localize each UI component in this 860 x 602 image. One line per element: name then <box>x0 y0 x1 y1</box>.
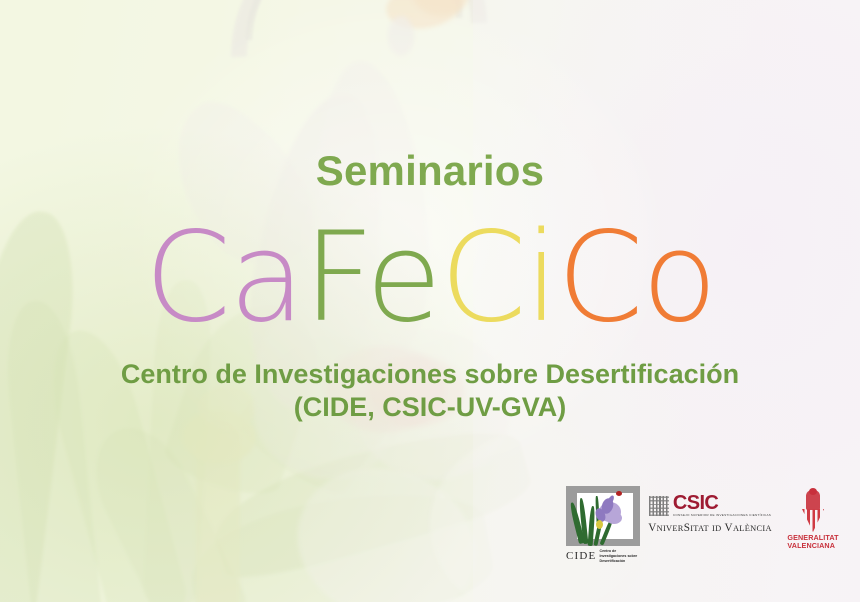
cide-logo-plate <box>566 486 640 546</box>
csic-logo: CSIC CONSEJO SUPERIOR DE INVESTIGACIONES… <box>649 494 771 517</box>
csic-wordmark: CSIC CONSEJO SUPERIOR DE INVESTIGACIONES… <box>673 494 771 517</box>
csic-uv-logo-group: CSIC CONSEJO SUPERIOR DE INVESTIGACIONES… <box>652 486 768 534</box>
wordmark-part-co: Co <box>557 206 715 350</box>
subtitle-line-2: (CIDE, CSIC-UV-GVA) <box>0 391 860 424</box>
subtitle: Centro de Investigaciones sobre Desertif… <box>0 358 860 424</box>
cide-caption: CIDE Centro de Investigaciones sobre Des… <box>566 549 642 564</box>
uv-part-1: V <box>648 522 656 534</box>
gva-wordmark: GENERALITAT VALENCIANA <box>787 534 838 551</box>
uv-part-2: NIVER <box>657 524 684 533</box>
uv-part-6: V <box>725 522 733 534</box>
csic-emblem-icon <box>649 496 669 516</box>
logo-strip: CIDE Centro de Investigaciones sobre Des… <box>566 486 852 578</box>
cide-sublabel-line-1: Centro de Investigaciones <box>599 549 626 558</box>
cafecico-wordmark: CaFeCiCo <box>0 216 860 340</box>
csic-acronym: CSIC <box>673 494 771 512</box>
subtitle-line-1: Centro de Investigaciones sobre Desertif… <box>121 359 739 389</box>
uv-part-4: ITAT <box>690 524 709 533</box>
cide-iris-illustration <box>566 486 640 546</box>
cide-logo: CIDE Centro de Investigaciones sobre Des… <box>566 486 642 564</box>
cide-sublabel: Centro de Investigaciones sobre Desertif… <box>599 549 642 564</box>
universitat-valencia-wordmark: VNIVERSITAT ID VALÈNCIA <box>648 522 772 534</box>
csic-tagline: CONSEJO SUPERIOR DE INVESTIGACIONES CIEN… <box>673 513 771 517</box>
cide-acronym: CIDE <box>566 551 596 562</box>
uv-part-5: ID <box>712 524 721 533</box>
wordmark-part-ca: Ca <box>145 206 304 350</box>
wordmark-part-fe: Fe <box>303 206 440 350</box>
gva-emblem-icon <box>796 490 830 532</box>
generalitat-valenciana-logo: GENERALITAT VALENCIANA <box>778 486 848 551</box>
poster-content: Seminarios CaFeCiCo Centro de Investigac… <box>0 0 860 602</box>
wordmark-part-ci: Ci <box>440 206 557 350</box>
gva-line-2: VALENCIANA <box>787 541 835 550</box>
eyebrow-title: Seminarios <box>0 150 860 192</box>
uv-part-7: ALÈNCIA <box>733 524 772 533</box>
poster-canvas: Seminarios CaFeCiCo Centro de Investigac… <box>0 0 860 602</box>
